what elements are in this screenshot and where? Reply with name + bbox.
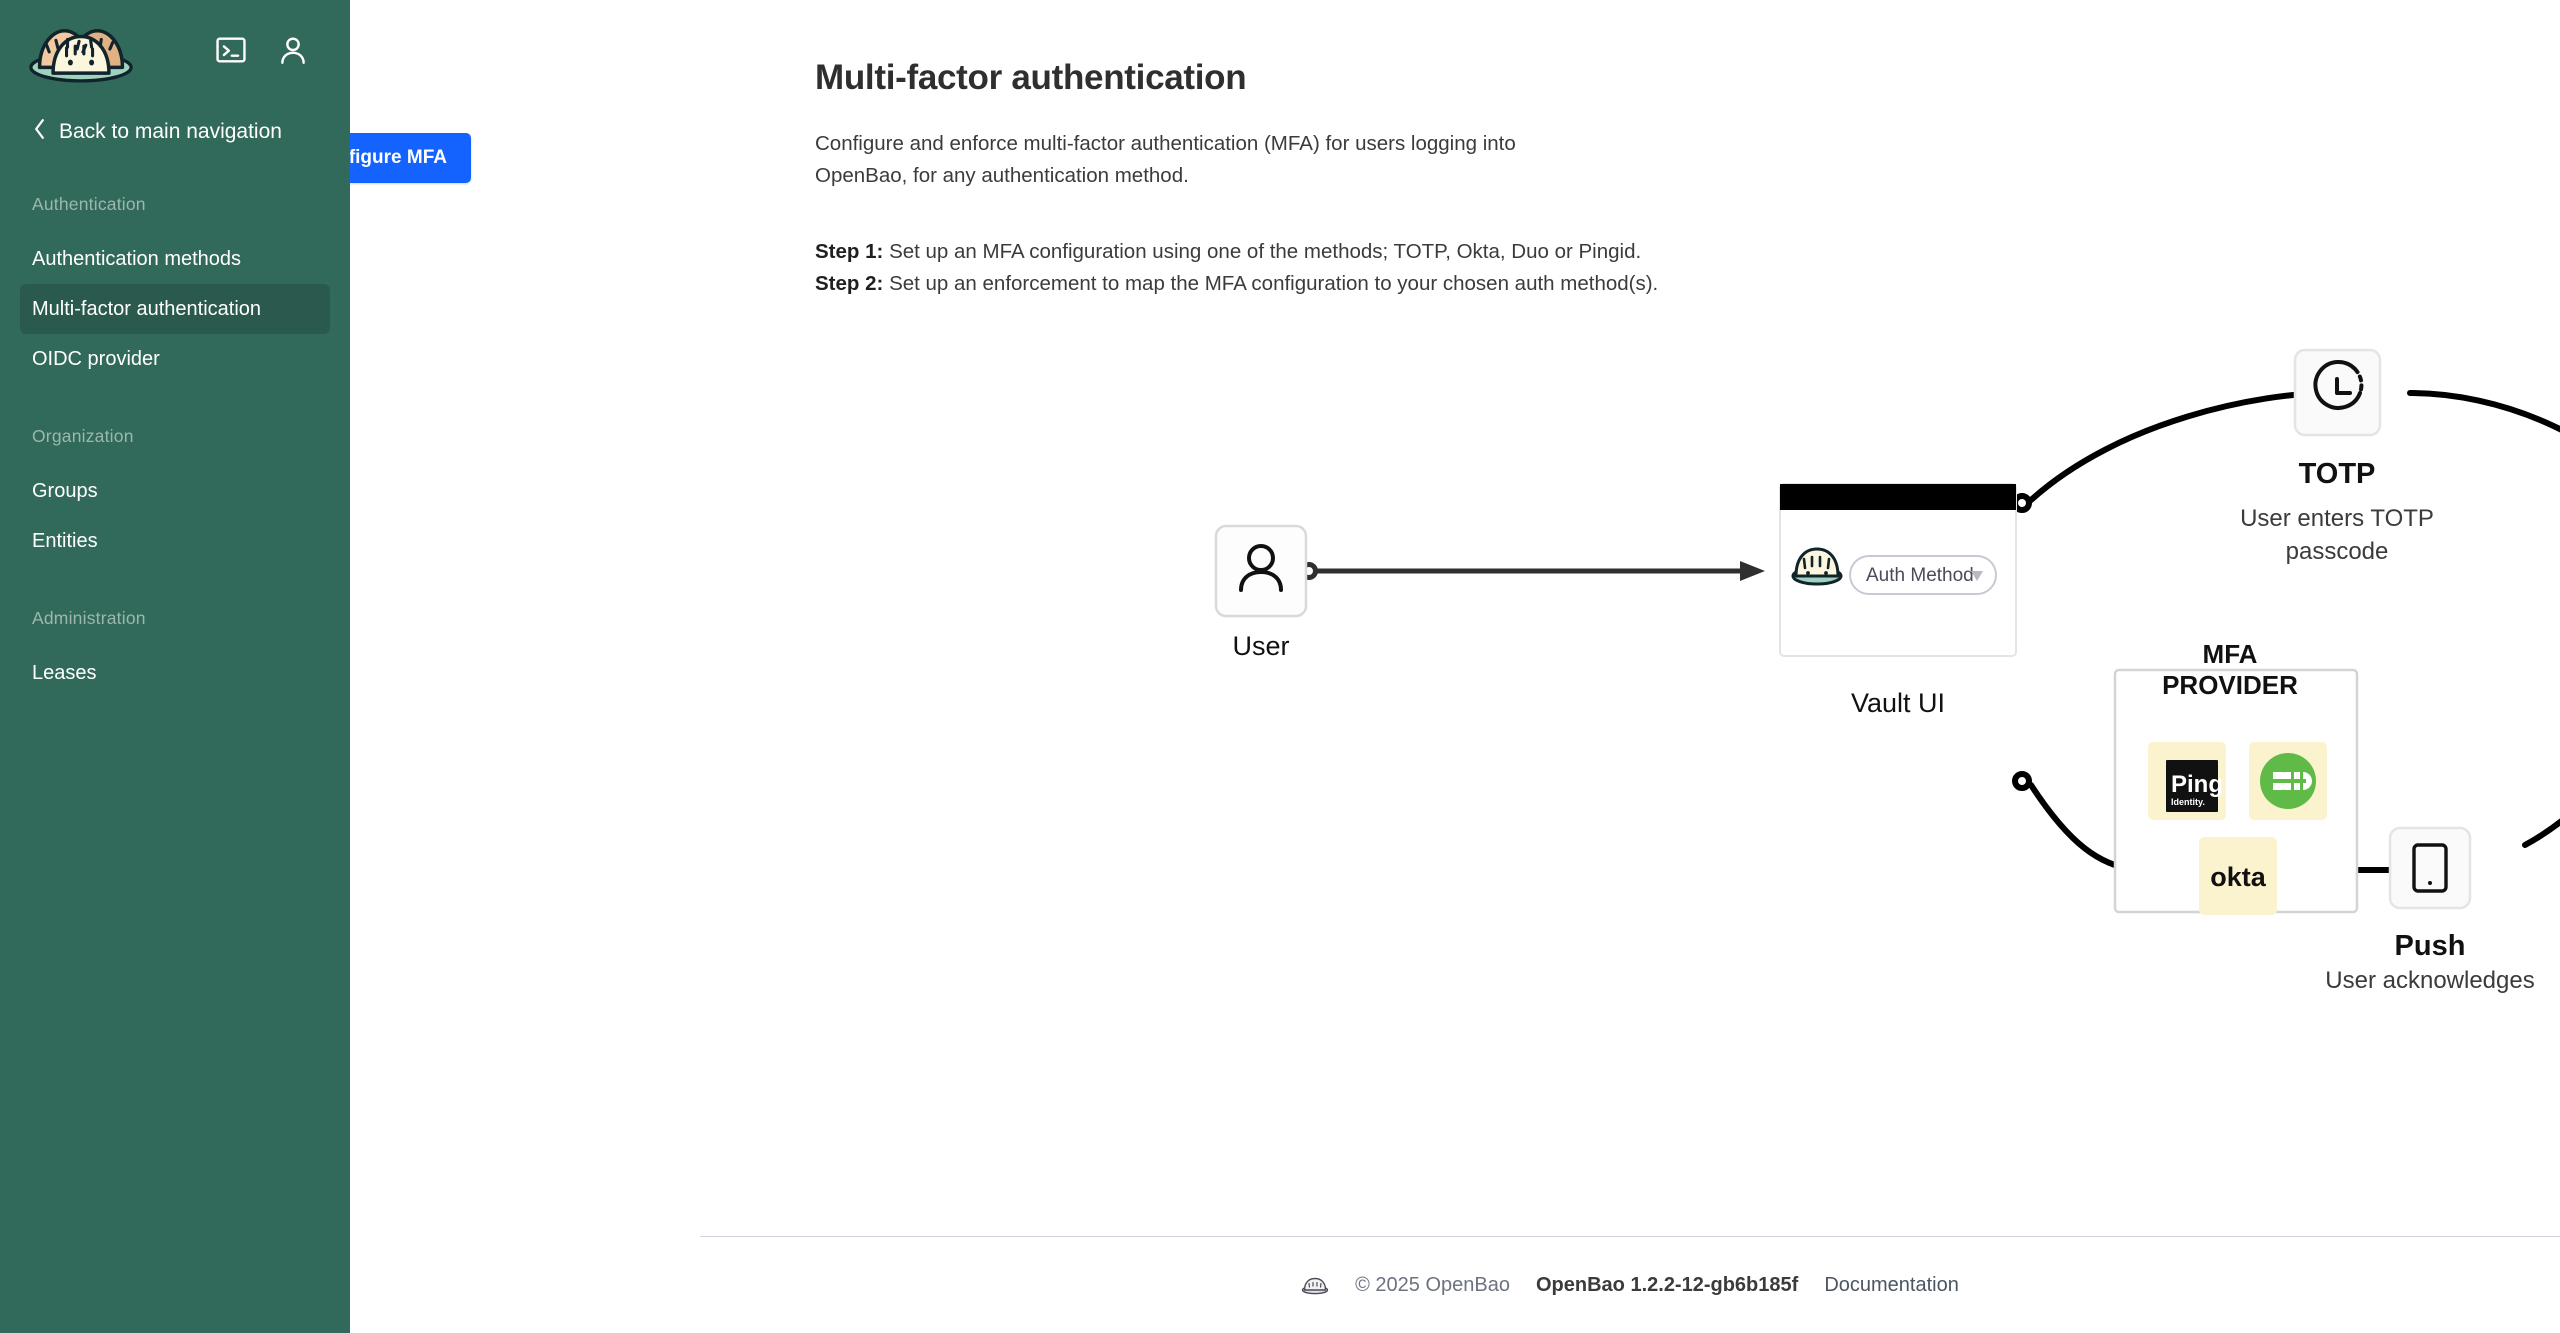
okta-logo: okta (2199, 837, 2277, 915)
diagram-node-mfa-provider: MFA PROVIDER Ping Identity. (2115, 639, 2357, 915)
auth-method-dropdown-label[interactable]: Auth Method (1866, 565, 1974, 586)
configure-mfa-button[interactable]: Configure MFA (350, 133, 471, 183)
user-account-icon[interactable] (276, 33, 310, 67)
diagram-sub-push-1: User acknowledges (2325, 967, 2534, 994)
chevron-left-icon (32, 118, 47, 146)
diagram-node-totp: TOTP User enters TOTP passcode (2240, 350, 2434, 565)
step-1-label: Step 1: (815, 240, 883, 263)
nav-section-authentication: Authentication Authentication methods Mu… (0, 194, 350, 384)
main-content: Multi-factor authentication Configure an… (350, 0, 2560, 1333)
nav-section-organization: Organization Groups Entities (0, 426, 350, 566)
sidebar-item-groups[interactable]: Groups (20, 466, 330, 516)
page-header-block: Multi-factor authentication Configure an… (350, 58, 2560, 300)
console-terminal-icon[interactable] (214, 33, 248, 67)
nav-heading-organization: Organization (0, 426, 350, 447)
sidebar-item-multi-factor-authentication[interactable]: Multi-factor authentication (20, 284, 330, 334)
arrow-totp-path (2015, 393, 2560, 519)
step-1-row: Step 1: Set up an MFA configuration usin… (815, 236, 2500, 268)
step-1-text: Set up an MFA configuration using one of… (889, 240, 1641, 263)
ping-identity-logo: Ping Identity. (2148, 742, 2226, 820)
diagram-label-mfa-provider-2: PROVIDER (2162, 670, 2298, 700)
user-account-icon-svg (276, 33, 310, 67)
page-title: Multi-factor authentication (815, 58, 2500, 98)
arrow-user-to-vault-ui (1303, 561, 1766, 581)
sidebar: Back to main navigation Authentication A… (0, 0, 350, 1333)
back-to-main-navigation[interactable]: Back to main navigation (0, 112, 350, 152)
ping-logo-line1: Ping (2171, 771, 2223, 798)
openbao-small-logo (1301, 1275, 1329, 1295)
openbao-bao-logo[interactable] (28, 17, 134, 83)
footer-copyright: © 2025 OpenBao (1355, 1274, 1510, 1297)
chevron-left-icon-svg (32, 118, 47, 140)
step-2-text: Set up an enforcement to map the MFA con… (889, 272, 1658, 295)
diagram-label-push: Push (2395, 930, 2466, 962)
sidebar-item-entities[interactable]: Entities (20, 516, 330, 566)
diagram-node-user: User (1216, 526, 1306, 661)
diagram-label-mfa-provider-1: MFA (2203, 639, 2258, 669)
back-nav-label: Back to main navigation (59, 120, 282, 144)
setup-steps: Step 1: Set up an MFA configuration usin… (815, 236, 2500, 301)
openbao-bao-logo-svg (28, 17, 134, 83)
nav-heading-administration: Administration (0, 608, 350, 629)
duo-logo (2249, 742, 2327, 820)
openbao-small-logo-svg (1301, 1275, 1329, 1295)
page-description: Configure and enforce multi-factor authe… (815, 128, 1585, 192)
diagram-sub-totp-2: passcode (2286, 538, 2389, 565)
mfa-flow-diagram: User (700, 300, 2560, 1000)
sidebar-item-oidc-provider[interactable]: OIDC provider (20, 334, 330, 384)
footer: © 2025 OpenBao OpenBao 1.2.2-12-gb6b185f… (700, 1236, 2560, 1333)
sidebar-item-leases[interactable]: Leases (20, 648, 330, 698)
sidebar-header (0, 0, 350, 100)
diagram-sub-totp-1: User enters TOTP (2240, 505, 2434, 532)
nav-section-administration: Administration Leases (0, 608, 350, 698)
footer-documentation-link[interactable]: Documentation (1824, 1274, 1959, 1297)
app-root: Back to main navigation Authentication A… (0, 0, 2560, 1333)
footer-version: OpenBao 1.2.2-12-gb6b185f (1536, 1274, 1798, 1297)
console-terminal-icon-svg (214, 33, 248, 67)
diagram-node-vault-ui: Auth Method Vault UI (1780, 484, 2016, 718)
okta-logo-text: okta (2210, 862, 2267, 892)
nav-heading-authentication: Authentication (0, 194, 350, 215)
step-2-label: Step 2: (815, 272, 883, 295)
ping-logo-line2: Identity. (2171, 797, 2205, 807)
sidebar-item-authentication-methods[interactable]: Authentication methods (20, 234, 330, 284)
mfa-flow-diagram-svg: User (700, 300, 2560, 1000)
diagram-label-user: User (1232, 631, 1289, 661)
sidebar-top-icons (214, 33, 310, 67)
diagram-label-totp: TOTP (2299, 458, 2376, 490)
diagram-sub-push-2: notification (2373, 997, 2488, 1000)
step-2-row: Step 2: Set up an enforcement to map the… (815, 268, 2500, 300)
diagram-label-vault-ui: Vault UI (1851, 688, 1945, 718)
